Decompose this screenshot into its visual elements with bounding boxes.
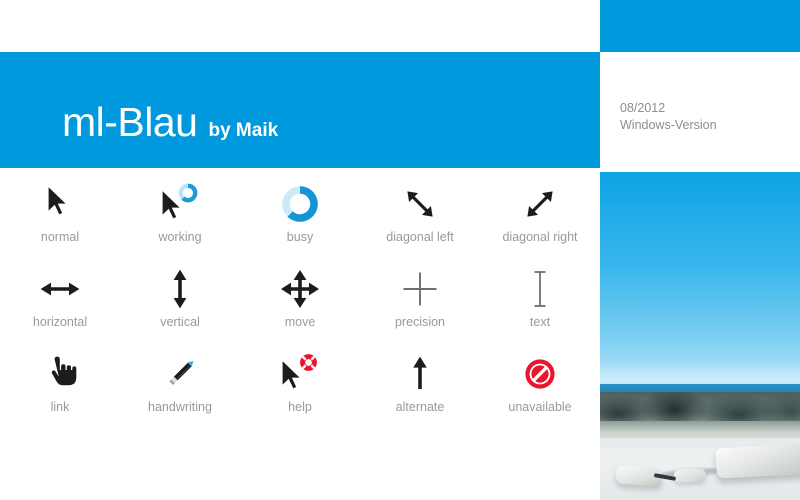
brand-title-group: ml-Blau by Maik xyxy=(62,102,278,143)
cursor-label: diagonal right xyxy=(502,231,577,244)
resize-horizontal-icon xyxy=(30,265,90,313)
cursor-grid: normal working xyxy=(0,180,600,435)
move-four-arrows-icon xyxy=(270,265,330,313)
resize-diagonal-nwse-icon xyxy=(390,180,450,228)
cursor-item-busy[interactable]: busy xyxy=(240,180,360,265)
cursor-label: unavailable xyxy=(508,401,571,414)
text-ibeam-icon xyxy=(510,265,570,313)
cursor-item-working[interactable]: working xyxy=(120,180,240,265)
no-entry-icon xyxy=(510,350,570,398)
cursor-label: normal xyxy=(41,231,79,244)
pen-icon xyxy=(150,350,210,398)
photo-rock-medium xyxy=(674,468,706,482)
photo-rock-large xyxy=(715,443,800,477)
cursor-label: handwriting xyxy=(148,401,212,414)
cursor-label: working xyxy=(158,231,201,244)
photo-sky xyxy=(600,172,800,388)
pointing-hand-icon xyxy=(30,350,90,398)
cursor-label: busy xyxy=(287,231,313,244)
page-title: ml-Blau xyxy=(62,102,197,143)
cursor-label: text xyxy=(530,316,550,329)
resize-vertical-icon xyxy=(150,265,210,313)
arrow-with-lifebuoy-icon xyxy=(270,350,330,398)
author-byline: by Maik xyxy=(208,121,278,140)
cursor-item-diagonal-right[interactable]: diagonal right xyxy=(480,180,600,265)
cursor-item-handwriting[interactable]: handwriting xyxy=(120,350,240,435)
cursor-label: link xyxy=(51,401,70,414)
cursor-label: help xyxy=(288,401,312,414)
cursor-item-unavailable[interactable]: unavailable xyxy=(480,350,600,435)
cursor-label: precision xyxy=(395,316,445,329)
cursor-label: alternate xyxy=(396,401,445,414)
cursor-item-alternate[interactable]: alternate xyxy=(360,350,480,435)
cursor-label: move xyxy=(285,316,316,329)
crosshair-icon xyxy=(390,265,450,313)
arrow-with-spinner-icon xyxy=(150,180,210,228)
release-date: 08/2012 xyxy=(620,100,795,117)
arrow-cursor-icon xyxy=(30,180,90,228)
spinner-ring-icon xyxy=(270,180,330,228)
beach-photo xyxy=(600,172,800,500)
platform-version: Windows-Version xyxy=(620,117,795,134)
accent-corner-block xyxy=(600,0,800,52)
cursor-item-help[interactable]: help xyxy=(240,350,360,435)
cursor-item-link[interactable]: link xyxy=(0,350,120,435)
cursor-item-move[interactable]: move xyxy=(240,265,360,350)
resize-diagonal-nesw-icon xyxy=(510,180,570,228)
cursor-item-precision[interactable]: precision xyxy=(360,265,480,350)
cursor-label: vertical xyxy=(160,316,200,329)
cursor-item-vertical[interactable]: vertical xyxy=(120,265,240,350)
cursor-item-text[interactable]: text xyxy=(480,265,600,350)
release-meta: 08/2012 Windows-Version xyxy=(620,100,795,134)
cursor-label: horizontal xyxy=(33,316,87,329)
header-bar: ml-Blau by Maik xyxy=(0,52,600,168)
cursor-item-horizontal[interactable]: horizontal xyxy=(0,265,120,350)
cursor-label: diagonal left xyxy=(386,231,453,244)
arrow-up-icon xyxy=(390,350,450,398)
cursor-theme-preview-page: ml-Blau by Maik 08/2012 Windows-Version xyxy=(0,0,800,500)
cursor-item-normal[interactable]: normal xyxy=(0,180,120,265)
cursor-item-diagonal-left[interactable]: diagonal left xyxy=(360,180,480,265)
